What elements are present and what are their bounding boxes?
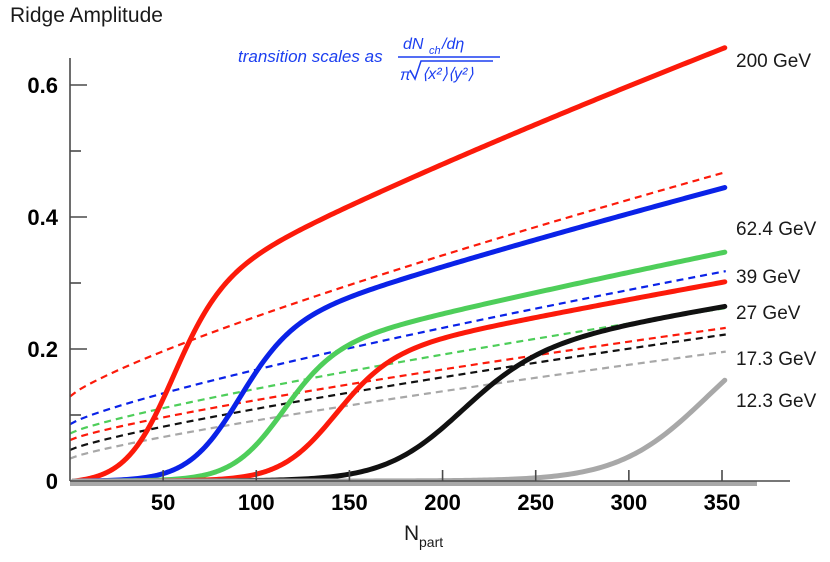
series-label-27-gev: 27 GeV: [736, 303, 801, 324]
y-tick-label: 0: [46, 469, 58, 494]
x-tick-label: 350: [704, 490, 741, 515]
formula-numerator-rest: /dη: [441, 36, 464, 53]
x-tick-label: 200: [424, 490, 461, 515]
x-tick-label: 50: [151, 490, 175, 515]
x-tick-label: 100: [238, 490, 275, 515]
y-tick-label: 0.2: [27, 337, 58, 362]
ridge-amplitude-chart: Ridge Amplitude 5010015020025030035000.2…: [0, 0, 830, 562]
series-label-17-3-gev: 17.3 GeV: [736, 349, 817, 370]
x-axis-label-subscript: part: [419, 534, 443, 550]
y-tick-label: 0.6: [27, 73, 58, 98]
series-label-62-4-gev: 62.4 GeV: [736, 219, 817, 240]
x-tick-label: 300: [610, 490, 647, 515]
series-label-200-gev: 200 GeV: [736, 51, 811, 72]
x-tick-label: 150: [331, 490, 368, 515]
series-label-39-gev: 39 GeV: [736, 267, 801, 288]
formula-numerator-subscript: ch: [429, 45, 441, 57]
series-label-12-3-gev: 12.3 GeV: [736, 391, 817, 412]
annotation-text: transition scales as: [238, 47, 383, 66]
formula-radicand: ⟨x²⟩⟨y²⟩: [422, 66, 474, 83]
x-tick-label: 250: [517, 490, 554, 515]
formula-denominator-pi: π: [400, 67, 411, 84]
formula-numerator-base: dN: [403, 36, 424, 53]
x-axis-label-base: N: [404, 522, 419, 545]
y-tick-label: 0.4: [27, 205, 58, 230]
page-title: Ridge Amplitude: [10, 4, 163, 27]
